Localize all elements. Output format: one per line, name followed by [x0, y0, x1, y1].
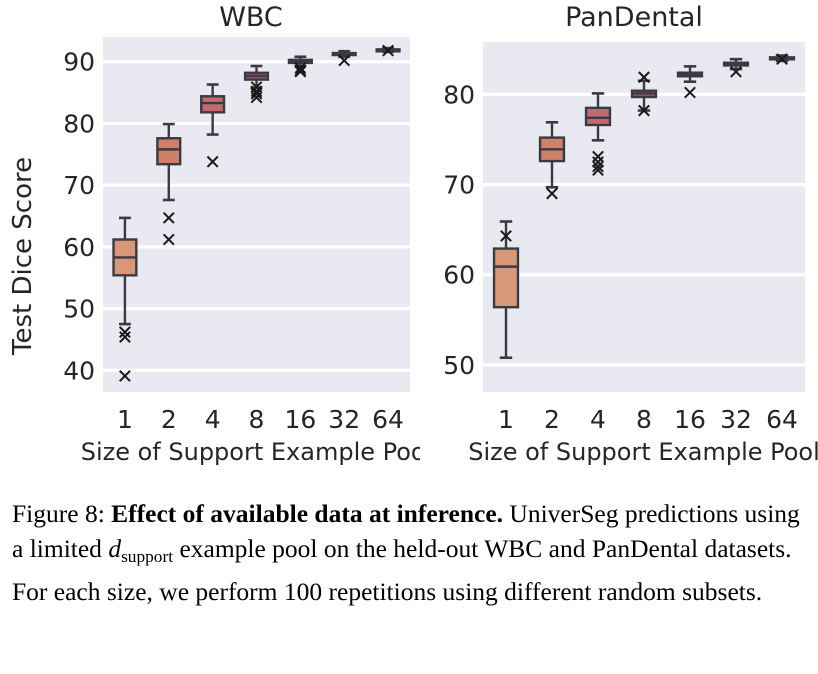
x-tick-label-32: 32 — [720, 405, 752, 434]
x-tick-label-32: 32 — [328, 405, 360, 434]
y-tick-label-60: 60 — [443, 261, 475, 290]
x-tick-label-64: 64 — [372, 405, 404, 434]
x-tick-label-2: 2 — [544, 405, 560, 434]
x-tick-label-8: 8 — [636, 405, 652, 434]
figure-8: WBC Test Dice Score 90807060504012481632… — [0, 0, 818, 674]
caption-math-variable: d — [108, 534, 121, 563]
x-tick-label-2: 2 — [161, 405, 177, 434]
y-tick-label-40: 40 — [63, 356, 95, 385]
x-tick-label-64: 64 — [766, 405, 798, 434]
panel-wbc: WBC Test Dice Score 90807060504012481632… — [0, 0, 420, 480]
y-tick-label-90: 90 — [63, 48, 95, 77]
y-tick-label-60: 60 — [63, 233, 95, 262]
x-tick-label-16: 16 — [674, 405, 706, 434]
x-tick-label-1: 1 — [117, 405, 133, 434]
boxplot-pandental: 807060501248163264Size of Support Exampl… — [420, 0, 818, 480]
figure-caption: Figure 8: Effect of available data at in… — [12, 496, 808, 609]
caption-bold-lead: Effect of available data at inference. — [111, 499, 503, 528]
caption-math-subscript: support — [121, 547, 173, 566]
panel-pandental: PanDental 807060501248163264Size of Supp… — [420, 0, 818, 480]
y-tick-label-70: 70 — [443, 171, 475, 200]
y-tick-label-80: 80 — [443, 80, 475, 109]
x-axis-label: Size of Support Example Pool — [81, 438, 420, 466]
y-tick-label-50: 50 — [443, 351, 475, 380]
x-tick-label-8: 8 — [249, 405, 265, 434]
x-axis-label: Size of Support Example Pool — [468, 438, 818, 466]
box-iqr — [201, 96, 224, 112]
caption-body-b: example pool on the held-out WBC and Pan… — [12, 534, 792, 606]
x-tick-label-1: 1 — [498, 405, 514, 434]
caption-figure-number: Figure 8: — [12, 499, 105, 528]
x-tick-label-4: 4 — [205, 405, 221, 434]
box-iqr — [157, 138, 180, 164]
x-tick-label-16: 16 — [284, 405, 316, 434]
boxplot-wbc: 9080706050401248163264Size of Support Ex… — [0, 0, 420, 480]
y-tick-label-80: 80 — [63, 109, 95, 138]
plot-panels: WBC Test Dice Score 90807060504012481632… — [0, 0, 818, 480]
y-tick-label-70: 70 — [63, 171, 95, 200]
y-tick-label-50: 50 — [63, 295, 95, 324]
x-tick-label-4: 4 — [590, 405, 606, 434]
box-iqr — [494, 249, 518, 308]
box-iqr — [586, 108, 610, 125]
